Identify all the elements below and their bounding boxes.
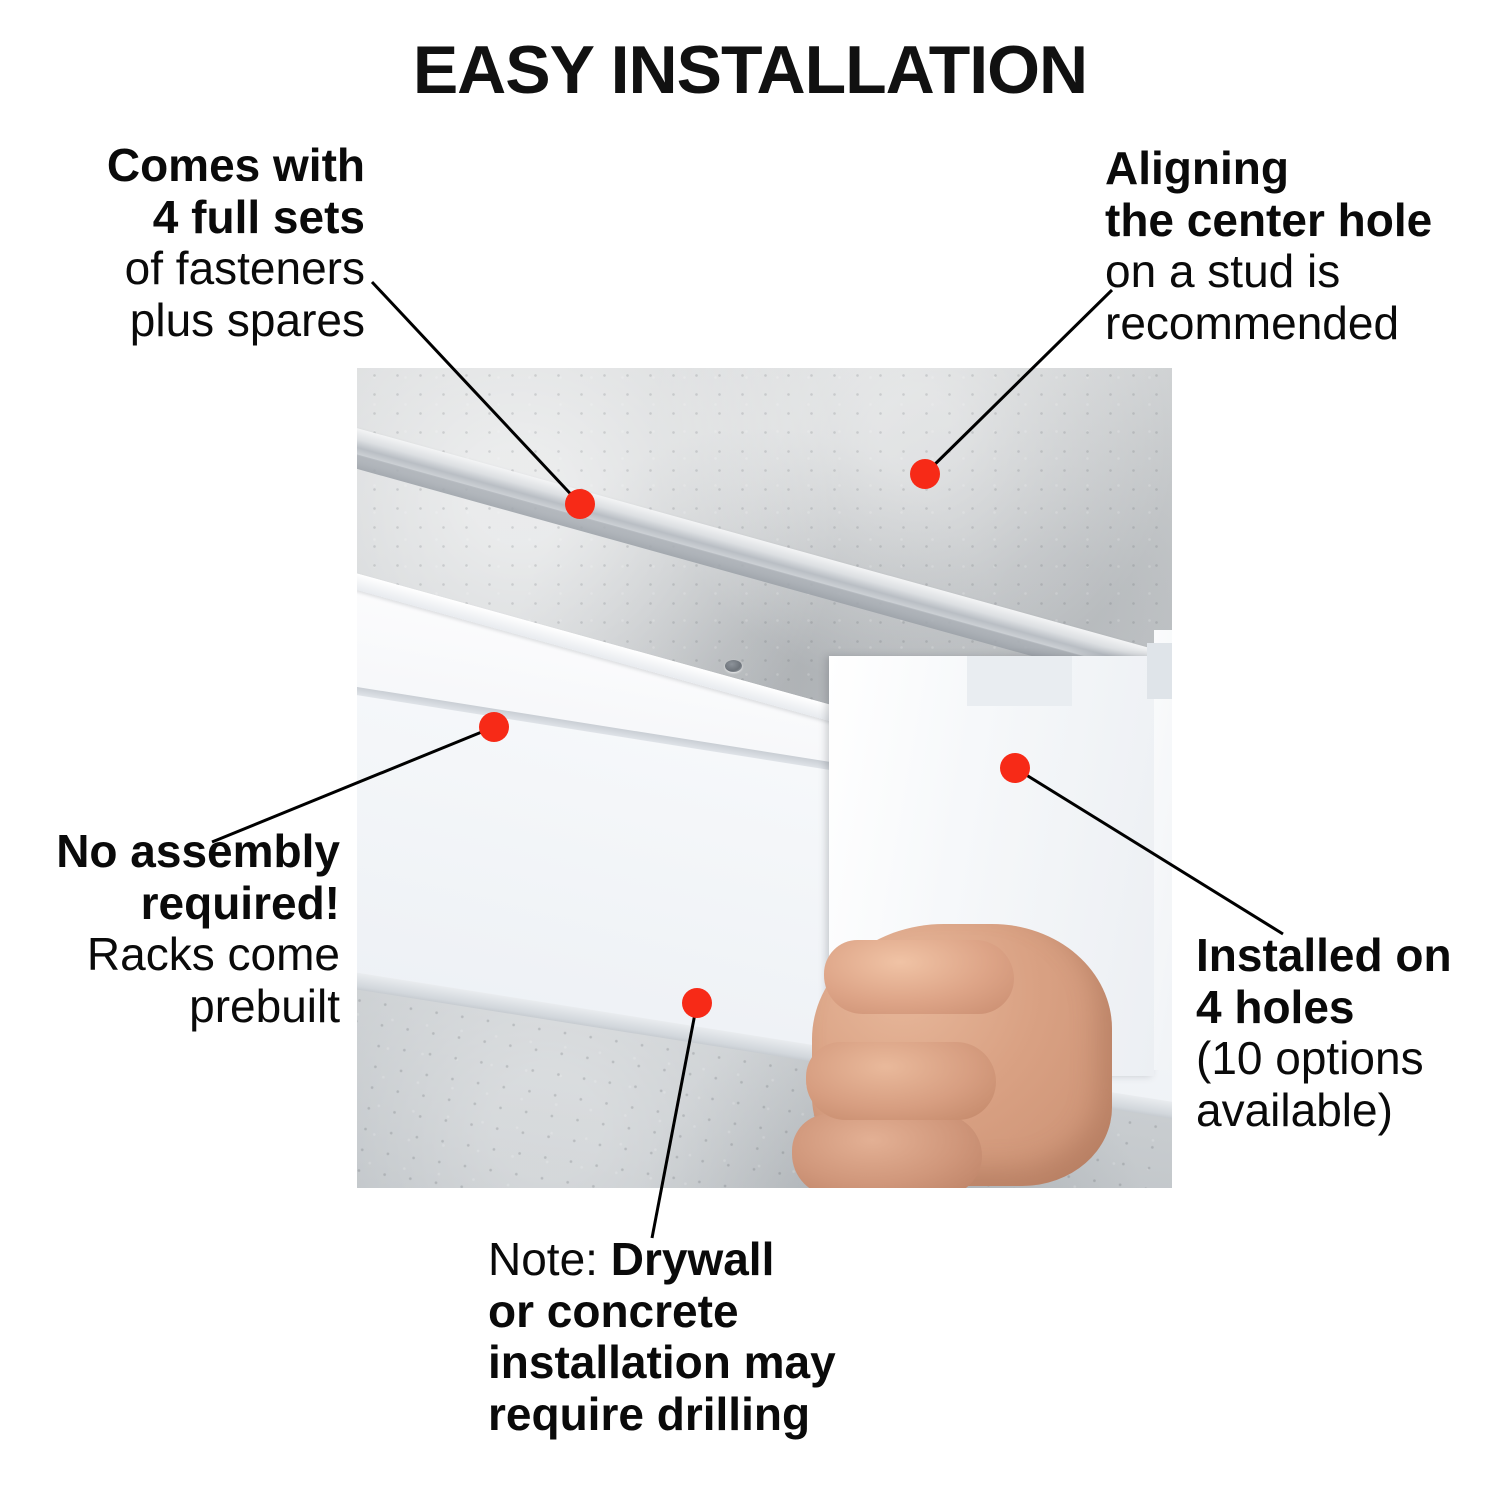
finger-lower — [792, 1114, 982, 1188]
product-installation-photo — [357, 368, 1172, 1188]
callout-installed-holes: Installed on4 holes (10 optionsavailable… — [1196, 930, 1500, 1136]
callout-installed-holes-bold: Installed on4 holes — [1196, 930, 1500, 1033]
callout-stud-alignment-regular: on a stud isrecommended — [1105, 246, 1500, 349]
page-title: EASY INSTALLATION — [0, 36, 1500, 104]
callout-installed-holes-regular: (10 optionsavailable) — [1196, 1033, 1500, 1136]
callout-drilling-note-text: Note: Drywallor concreteinstallation may… — [488, 1234, 918, 1440]
callout-no-assembly-regular: Racks comeprebuilt — [2, 929, 340, 1032]
callout-fasteners-bold: Comes with4 full sets — [20, 140, 365, 243]
mounting-hole-upper — [725, 660, 742, 672]
infographic-root: EASY INSTALLATION — [0, 0, 1500, 1500]
callout-drilling-note: Note: Drywallor concreteinstallation may… — [488, 1234, 918, 1440]
finger-index — [824, 940, 1014, 1014]
callout-no-assembly-bold: No assemblyrequired! — [2, 826, 340, 929]
callout-fasteners-regular: of fastenersplus spares — [20, 243, 365, 346]
hand-holding-pencil — [812, 924, 1172, 1188]
callout-fasteners: Comes with4 full sets of fastenersplus s… — [20, 140, 365, 346]
bracket-notch-right — [1147, 643, 1172, 699]
callout-stud-alignment-bold: Aligningthe center hole — [1105, 143, 1500, 246]
callout-drilling-note-prefix: Note: — [488, 1233, 611, 1285]
callout-no-assembly: No assemblyrequired! Racks comeprebuilt — [2, 826, 340, 1032]
bracket-notch-left — [967, 656, 1072, 706]
finger-middle — [806, 1042, 996, 1120]
callout-stud-alignment: Aligningthe center hole on a stud isreco… — [1105, 143, 1500, 349]
